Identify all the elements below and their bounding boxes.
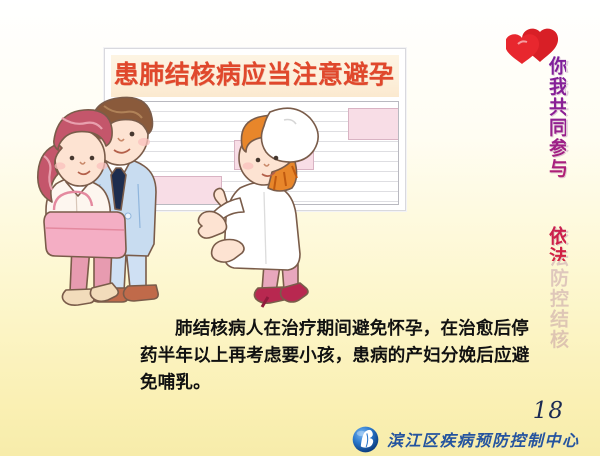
poster-title: 患肺结核病应当注意避孕 xyxy=(104,52,404,94)
illustration-clinic-counseling-scene xyxy=(28,96,348,318)
footer-organization-name: 滨江区疾病预防控制中心 xyxy=(387,427,580,451)
poster-highlight-block xyxy=(348,108,399,140)
slide-canvas: 患肺结核病应当注意避孕 xyxy=(0,0,600,456)
footer: 滨江区疾病预防控制中心 xyxy=(352,424,580,454)
cdc-blue-sphere-logo xyxy=(352,426,379,453)
body-paragraph: 肺结核病人在治疗期间避免怀孕，在治愈后停药半年以上再考虑要小孩，患病的产妇分娩后… xyxy=(140,316,532,397)
figure-female-doctor xyxy=(198,108,318,307)
vertical-slogan: 你我共同参与 依法防控结核 xyxy=(532,56,566,261)
page-number: 18 xyxy=(533,398,564,424)
